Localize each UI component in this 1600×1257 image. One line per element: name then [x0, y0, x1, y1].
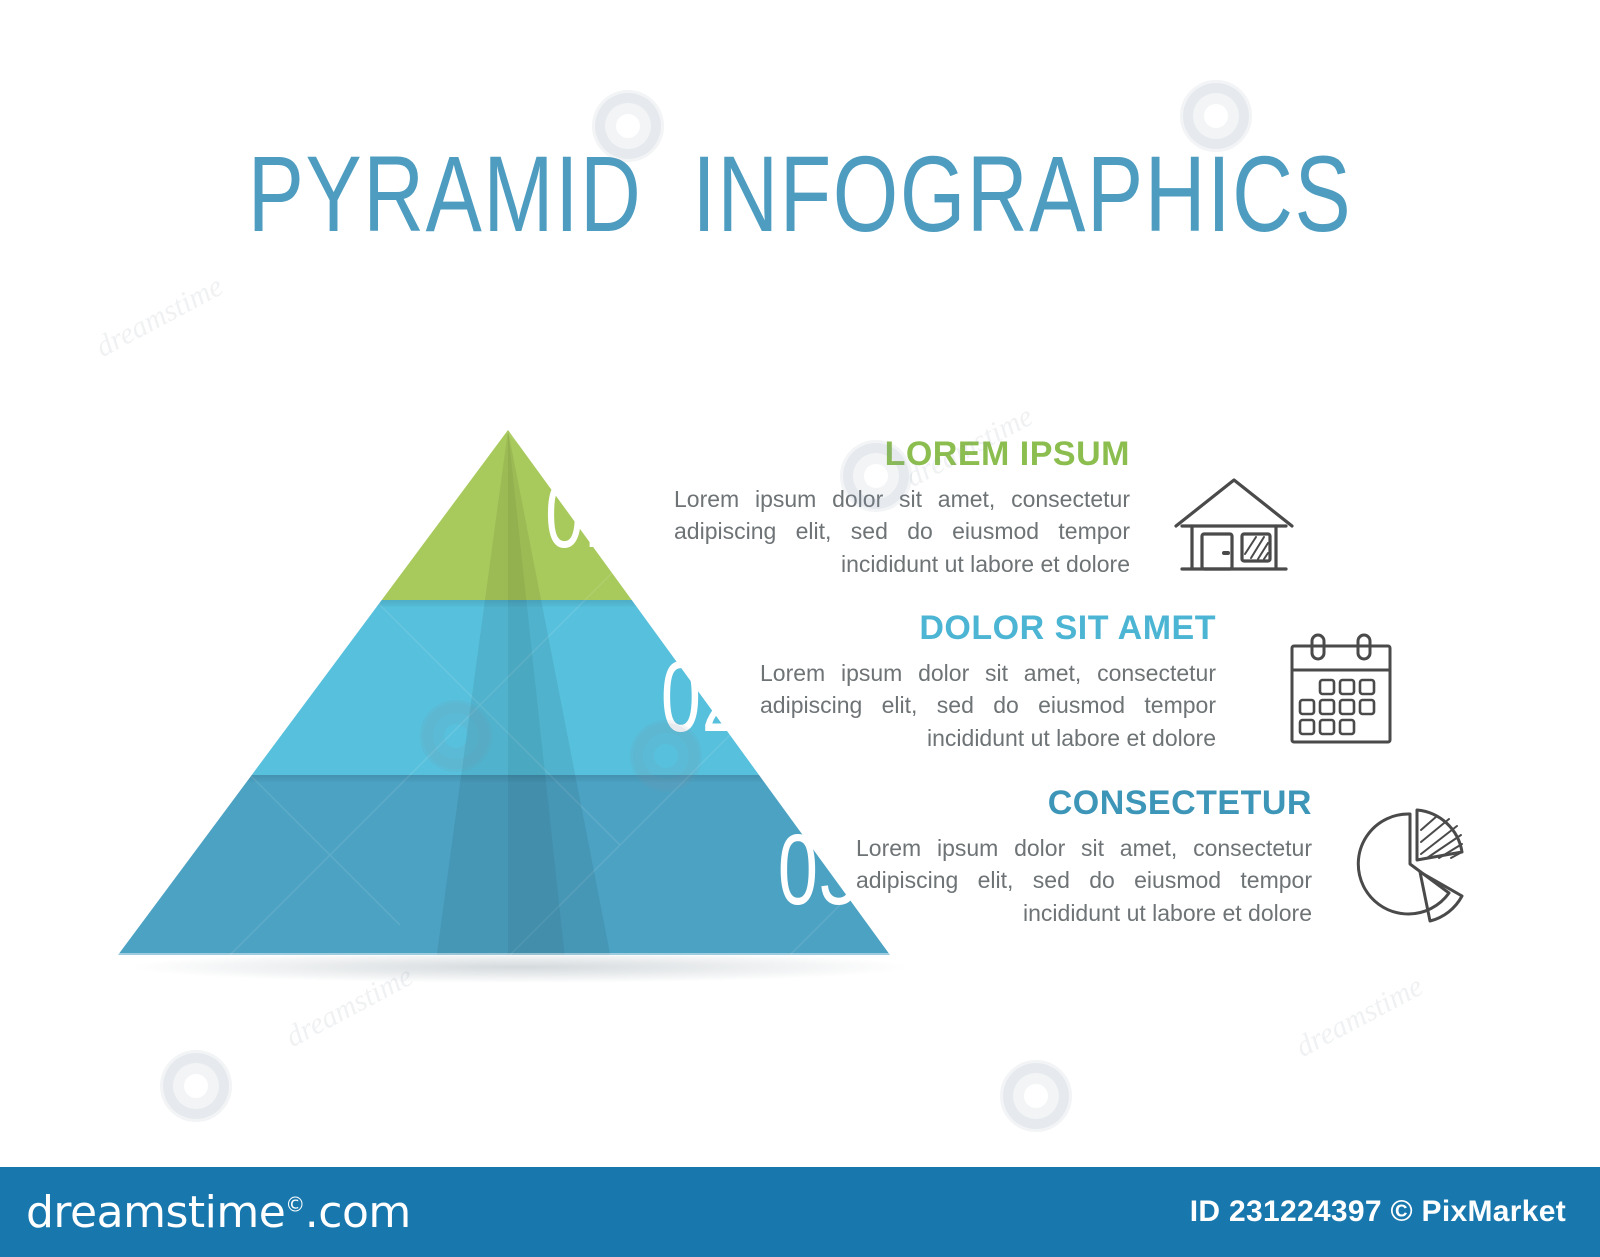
- calendar-icon-svg: [1282, 630, 1400, 752]
- watermark-text: dreamstime: [1290, 969, 1429, 1064]
- info-block-2-heading: DOLOR SIT AMET: [760, 611, 1216, 647]
- footer-bar: dreamstime©.com ID 231224397 © PixMarket: [0, 1167, 1600, 1257]
- watermark-spiral-icon: [1000, 1060, 1072, 1132]
- pyramid-level-3-number: 03: [778, 813, 860, 928]
- info-block-consectetur: CONSECTETUR Lorem ipsum dolor sit amet, …: [856, 786, 1312, 930]
- info-block-3-heading: CONSECTETUR: [856, 786, 1312, 822]
- watermark-text: dreamstime: [90, 269, 229, 364]
- dreamstime-logo-suffix: .com: [305, 1187, 411, 1238]
- info-block-1-body: Lorem ipsum dolor sit amet, consectetur …: [674, 483, 1130, 581]
- pie-chart-icon: [1348, 806, 1478, 924]
- image-id-label: ID 231224397 © PixMarket: [1190, 1195, 1566, 1229]
- house-icon: [1168, 468, 1300, 578]
- pyramid-level-1-number: 01: [545, 460, 623, 570]
- pie-chart-icon-svg: [1348, 806, 1478, 924]
- calendar-icon: [1282, 630, 1400, 752]
- page-title: PYRAMID INFOGRAPHICS: [176, 140, 1424, 248]
- info-block-1-heading: LOREM IPSUM: [674, 437, 1130, 473]
- info-block-dolor-sit-amet: DOLOR SIT AMET Lorem ipsum dolor sit ame…: [760, 611, 1216, 755]
- pyramid-band-divider-1: [100, 600, 920, 607]
- dreamstime-logo-text: dreamstime: [26, 1187, 285, 1238]
- pyramid-base-edge: [118, 953, 890, 956]
- dreamstime-logo[interactable]: dreamstime©.com: [26, 1187, 411, 1238]
- dreamstime-logo-mark: ©: [285, 1192, 305, 1216]
- info-block-2-body: Lorem ipsum dolor sit amet, consectetur …: [760, 657, 1216, 755]
- house-icon-svg: [1168, 468, 1300, 578]
- info-block-lorem-ipsum: LOREM IPSUM Lorem ipsum dolor sit amet, …: [674, 437, 1130, 581]
- pyramid-level-2-number: 02: [661, 640, 743, 755]
- pyramid-band-divider-2: [100, 775, 920, 782]
- watermark-spiral-icon: [160, 1050, 232, 1122]
- info-block-3-body: Lorem ipsum dolor sit amet, consectetur …: [856, 832, 1312, 930]
